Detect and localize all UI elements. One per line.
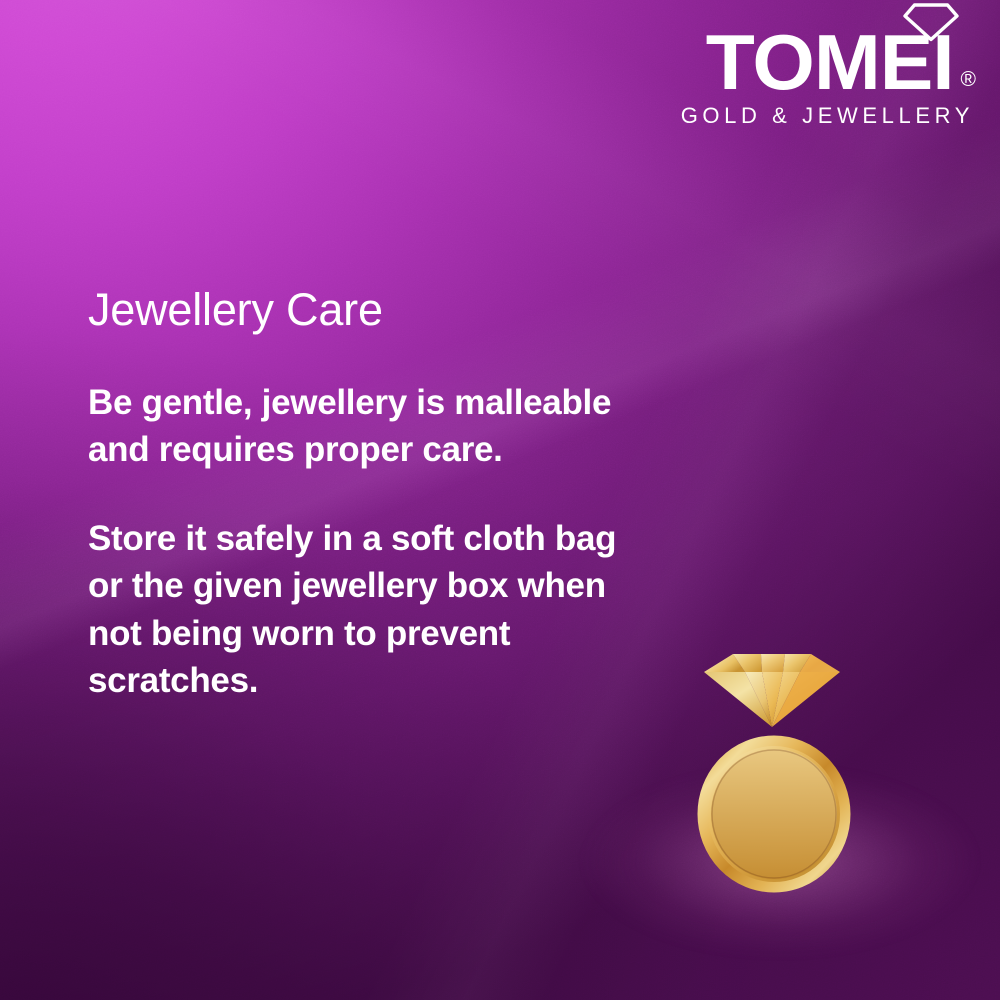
diamond-ring-illustration bbox=[690, 632, 880, 912]
logo-wordmark-row: TOMEI ® bbox=[636, 4, 976, 96]
brand-logo: TOMEI ® GOLD & JEWELLERY bbox=[636, 4, 976, 129]
care-paragraph-2: Store it safely in a soft cloth bag or t… bbox=[88, 515, 648, 704]
registered-trademark-symbol: ® bbox=[961, 69, 976, 90]
poster-canvas: TOMEI ® GOLD & JEWELLERY Jewellery Care … bbox=[0, 0, 1000, 1000]
care-paragraph-1: Be gentle, jewellery is malleable and re… bbox=[88, 379, 648, 474]
ring-band-icon bbox=[704, 742, 844, 890]
logo-tagline: GOLD & JEWELLERY bbox=[636, 103, 976, 129]
page-title: Jewellery Care bbox=[88, 286, 648, 335]
logo-wordmark-text: TOMEI bbox=[706, 30, 954, 96]
diamond-gem-icon bbox=[704, 654, 840, 727]
copy-block: Jewellery Care Be gentle, jewellery is m… bbox=[88, 286, 648, 704]
